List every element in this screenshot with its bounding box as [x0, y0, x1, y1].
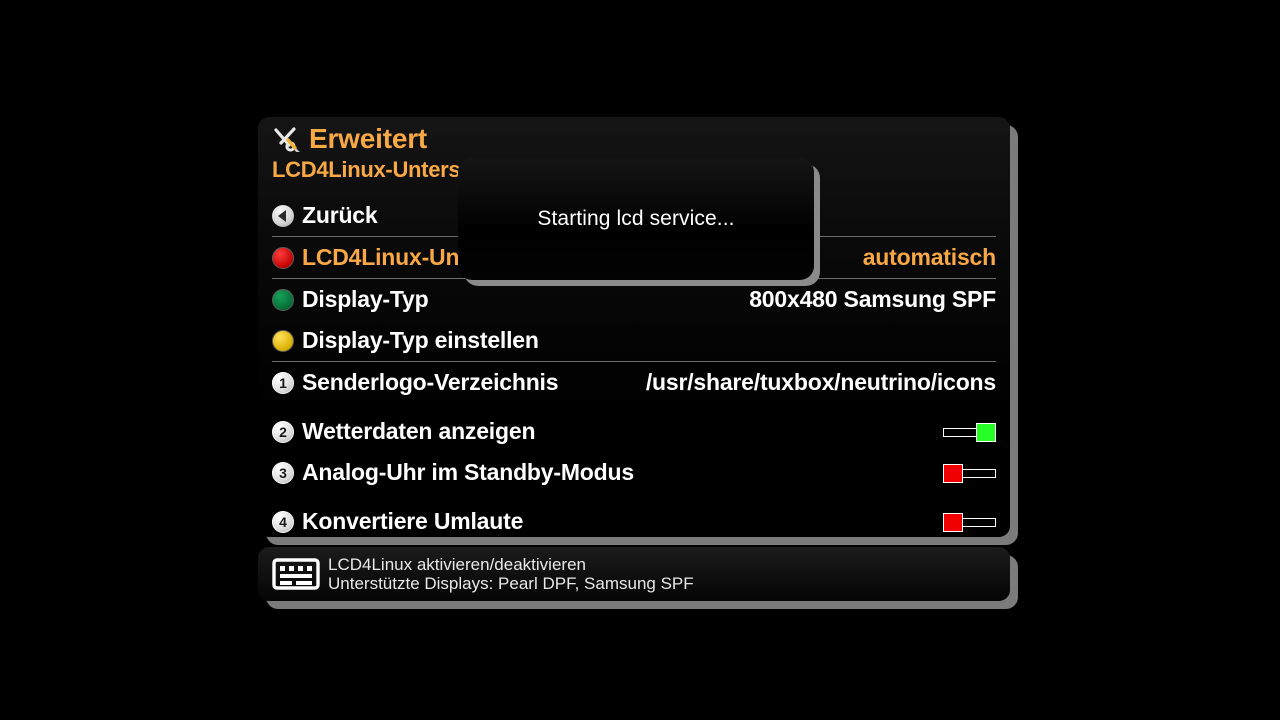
back-arrow-icon	[272, 205, 294, 227]
popup-message: Starting lcd service...	[537, 207, 734, 231]
menu-item-label: Wetterdaten anzeigen	[302, 418, 535, 445]
red-bullet-icon	[272, 247, 294, 269]
menu-item-label: Analog-Uhr im Standby-Modus	[302, 459, 634, 486]
menu-item-channel-logo-directory[interactable]: 1 Senderlogo-Verzeichnis /usr/share/tuxb…	[258, 362, 1010, 403]
toggle-knob	[943, 513, 963, 532]
hint-line-1: LCD4Linux aktivieren/deaktivieren	[328, 555, 694, 574]
green-bullet-icon	[272, 289, 294, 311]
menu-item-convert-umlauts[interactable]: 4 Konvertiere Umlaute	[258, 501, 1010, 542]
row-spacer	[258, 493, 1010, 501]
yellow-bullet-icon	[272, 330, 294, 352]
menu-item-show-weather-data[interactable]: 2 Wetterdaten anzeigen	[258, 411, 1010, 452]
badge-1-icon: 1	[272, 372, 294, 394]
badge-3-icon: 3	[272, 462, 294, 484]
page-title: Erweitert	[309, 124, 427, 154]
hint-box: LCD4Linux aktivieren/deaktivieren Unters…	[258, 547, 1010, 601]
menu-item-label: Display-Typ	[302, 286, 428, 313]
menu-item-label: Senderlogo-Verzeichnis	[302, 369, 558, 396]
badge-4-icon: 4	[272, 511, 294, 533]
menu-item-value: 800x480 Samsung SPF	[749, 286, 996, 313]
toggle-track	[960, 469, 996, 478]
menu-item-label: Zurück	[302, 202, 377, 229]
toggle-track	[943, 428, 979, 437]
status-popup: Starting lcd service...	[458, 158, 814, 280]
row-spacer	[258, 403, 1010, 411]
menu-item-analog-clock-standby[interactable]: 3 Analog-Uhr im Standby-Modus	[258, 452, 1010, 493]
menu-item-label: Display-Typ einstellen	[302, 327, 539, 354]
keyboard-icon	[272, 557, 320, 591]
tools-icon	[272, 126, 300, 152]
toggle-show-weather-data[interactable]	[943, 423, 996, 441]
menu-item-value: /usr/share/tuxbox/neutrino/icons	[646, 369, 996, 396]
hint-text: LCD4Linux aktivieren/deaktivieren Unters…	[328, 555, 694, 593]
hint-line-2: Unterstützte Displays: Pearl DPF, Samsun…	[328, 574, 694, 593]
menu-item-label: Konvertiere Umlaute	[302, 508, 523, 535]
toggle-convert-umlauts[interactable]	[943, 513, 996, 531]
toggle-track	[960, 518, 996, 527]
toggle-analog-clock-standby[interactable]	[943, 464, 996, 482]
menu-item-value: automatisch	[863, 244, 996, 271]
menu-item-display-type-configure[interactable]: Display-Typ einstellen	[258, 320, 1010, 361]
badge-2-icon: 2	[272, 421, 294, 443]
toggle-knob	[976, 423, 996, 442]
tv-osd-screen: Erweitert LCD4Linux-Unterstützung Zurück…	[0, 0, 1280, 720]
toggle-knob	[943, 464, 963, 483]
